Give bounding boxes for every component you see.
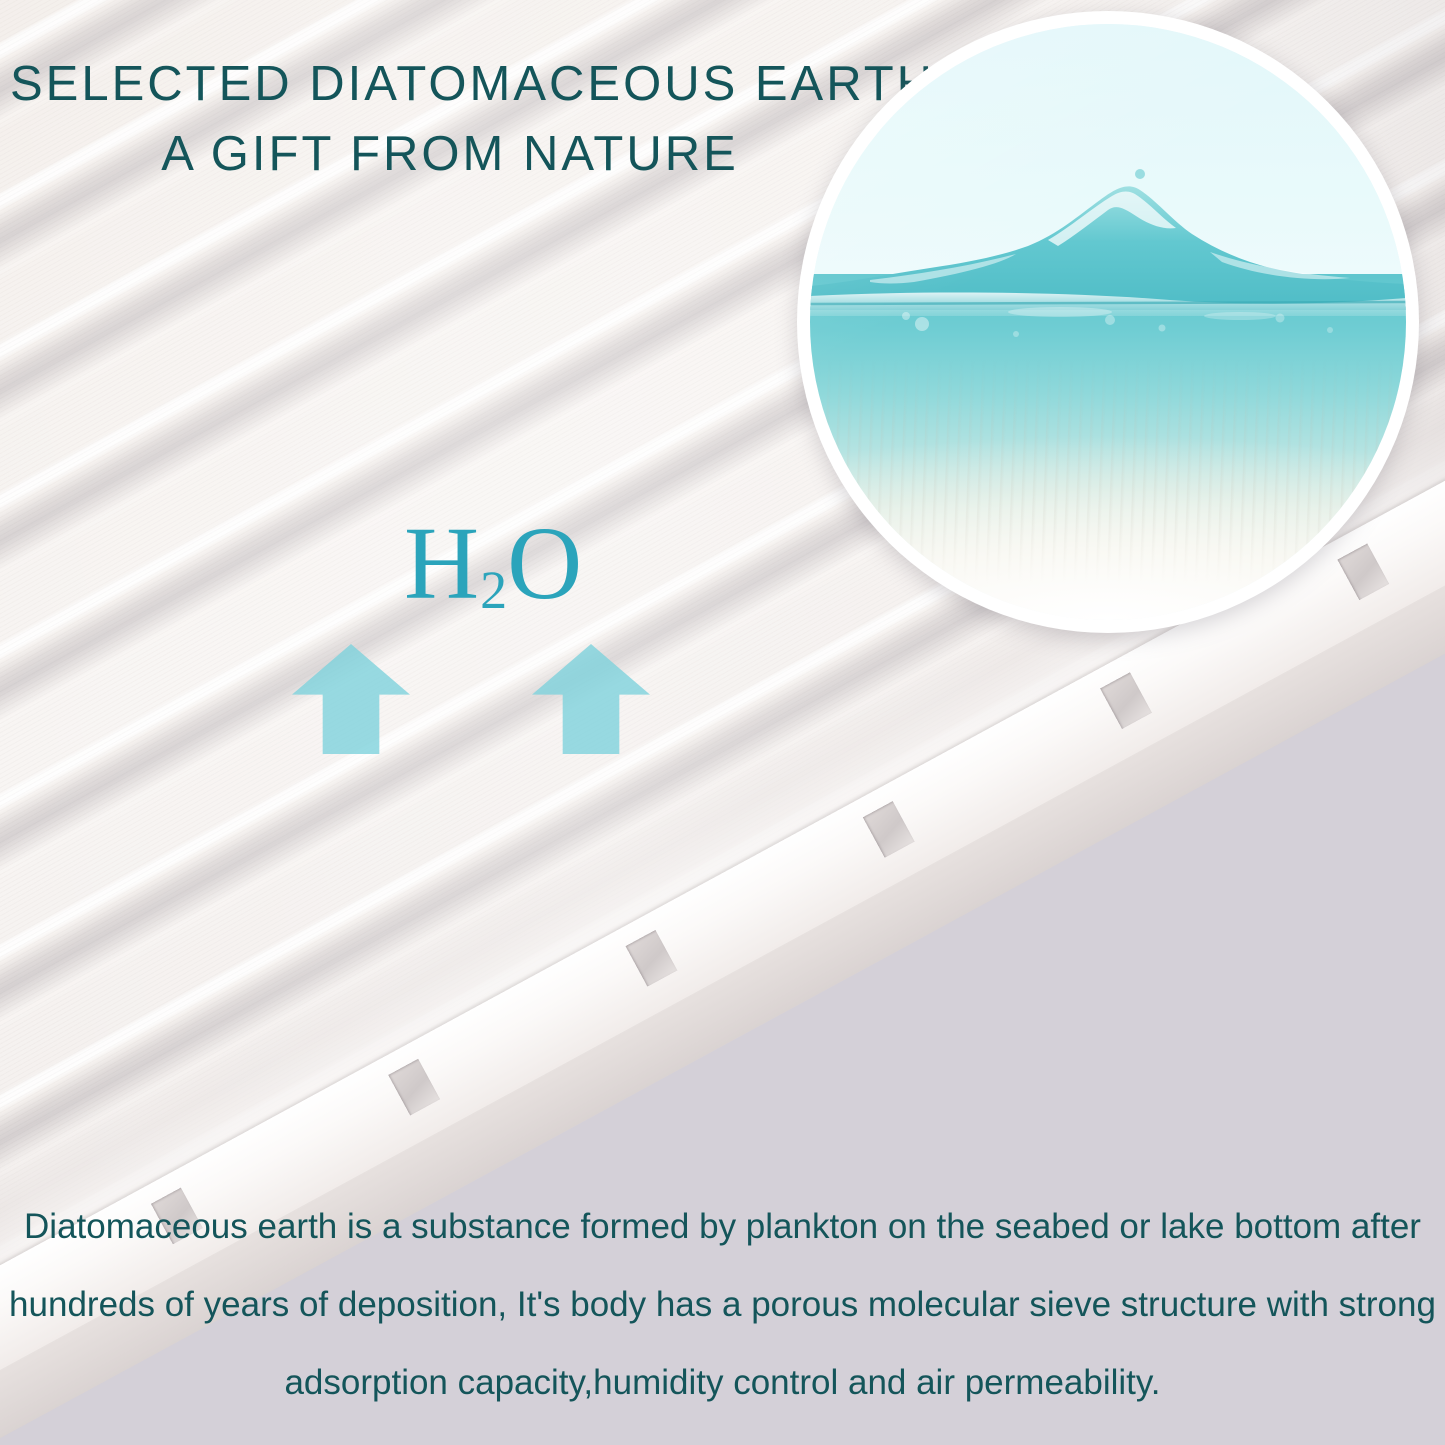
- headline-line-2: A GIFT FROM NATURE: [10, 126, 890, 182]
- h2o-oxygen: O: [507, 506, 583, 621]
- water-sediment-inset: [797, 11, 1419, 633]
- caption-line-2: hundreds of years of deposition, It's bo…: [0, 1287, 1445, 1322]
- caption-line-3: adsorption capacity,humidity control and…: [0, 1365, 1445, 1400]
- caption-line-1: Diatomaceous earth is a substance formed…: [0, 1209, 1445, 1244]
- h2o-hydrogen: H: [404, 506, 480, 621]
- h2o-label: H2O: [404, 512, 583, 616]
- product-infographic: SELECTED DIATOMACEOUS EARTH A GIFT FROM …: [0, 0, 1445, 1445]
- inset-image: [810, 24, 1406, 620]
- headline-line-1: SELECTED DIATOMACEOUS EARTH: [10, 56, 890, 112]
- h2o-subscript: 2: [480, 560, 507, 620]
- water-splash-wave: [810, 24, 1406, 620]
